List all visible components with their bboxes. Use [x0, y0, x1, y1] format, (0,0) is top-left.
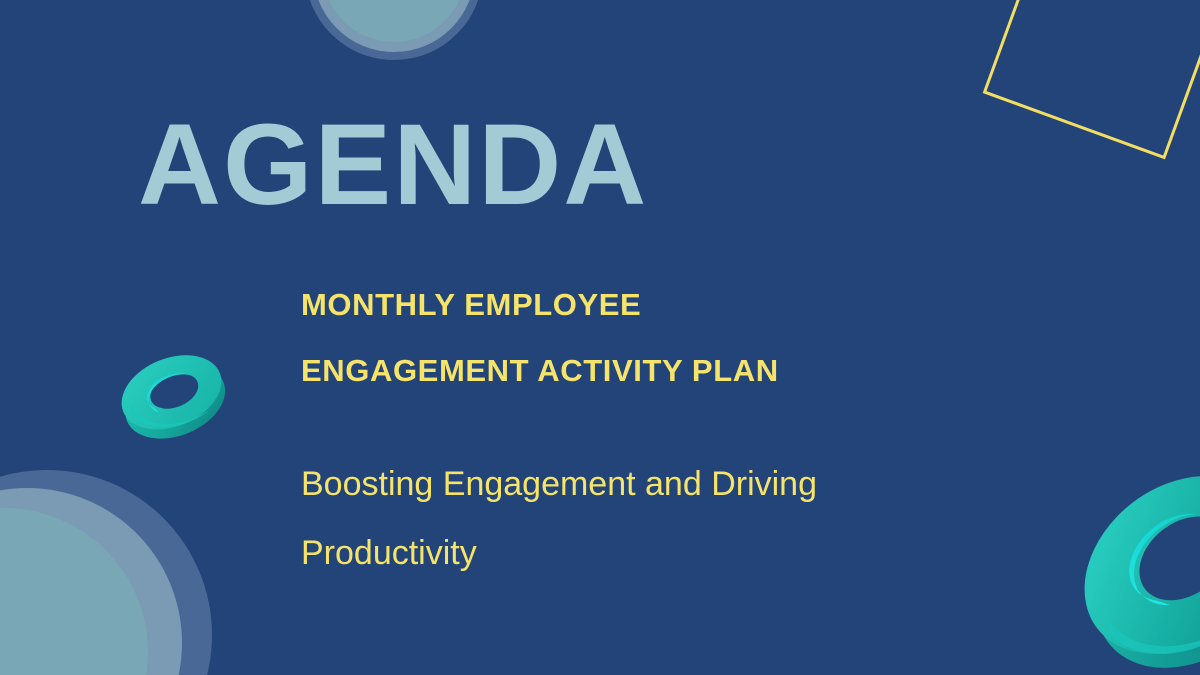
circle-top-inner-fill [322, 0, 466, 42]
torus-ring-small-icon [103, 327, 244, 465]
page-title: AGENDA [138, 108, 648, 223]
circle-bottom-left-outer-ring [0, 470, 212, 675]
circle-bottom-left-inner-fill [0, 508, 148, 675]
description-line-1: Boosting Engagement and Driving [301, 450, 1001, 519]
circle-top-middle-ring [313, 0, 475, 52]
subtitle-block: MONTHLY EMPLOYEE ENGAGEMENT ACTIVITY PLA… [301, 272, 1001, 404]
square-outline-icon [983, 0, 1200, 159]
agenda-slide: AGENDA MONTHLY EMPLOYEE ENGAGEMENT ACTIV… [0, 0, 1200, 675]
circle-top-outer-ring [305, 0, 483, 60]
description-block: Boosting Engagement and Driving Producti… [301, 450, 1001, 588]
description-line-2: Productivity [301, 519, 1001, 588]
circle-bottom-left-middle-ring [0, 488, 182, 675]
subtitle-line-2: ENGAGEMENT ACTIVITY PLAN [301, 338, 1001, 404]
subtitle-line-1: MONTHLY EMPLOYEE [301, 272, 1001, 338]
torus-ring-large-icon [1021, 402, 1200, 675]
